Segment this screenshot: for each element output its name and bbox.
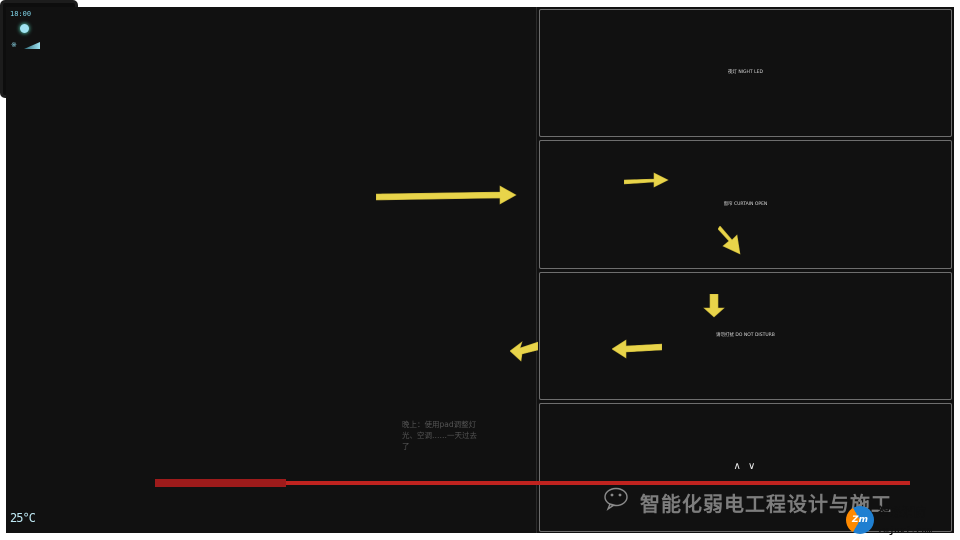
slide-canvas: 酒店●智能化系统 1.1 酒店移动互联 酒店移动互联，打造个性“体验与效率” 入… [0,0,960,540]
logo-company-name: 智淼消防 [878,505,926,519]
logo-website: zmjaxf.com [878,526,932,536]
fan-speed-bar [24,42,40,49]
arrow-down-right-1 [718,226,746,256]
pad-clock: 18:00 [10,10,31,18]
photo-room-control-pad: 18:00 ※ 25°C 夜灯 NIGHT LED 窗帘 CURTAIN OPE… [0,0,78,98]
pad-temperature: 25°C [10,511,35,525]
logo-mark-text: Zm [846,506,874,534]
company-logo: Zm 智淼消防 zmjaxf.com [846,503,932,537]
arrow-left-1 [612,338,662,360]
light-icon [20,24,29,33]
pad-button-do-not-disturb[interactable]: 请勿打扰 DO NOT DISTURB [539,272,952,401]
footer-bar-thick [155,479,286,487]
pad-button-night-light[interactable]: 夜灯 NIGHT LED [539,9,952,138]
caption-evening-pad: 晚上：使用pad调整灯 光、空调……一天过去 了 [402,420,522,453]
arrow-right-2 [624,168,670,190]
pad-screen-right: 夜灯 NIGHT LED 窗帘 CURTAIN OPEN 请勿打扰 DO NOT… [537,7,954,533]
arrow-down-1 [700,294,726,318]
footer-bar-thin [286,481,910,485]
wechat-icon [604,487,634,511]
pad-screen-left: 18:00 ※ 25°C [6,7,537,533]
fan-icon: ※ [11,41,17,49]
arrow-left-2 [510,338,538,364]
arrow-right-1 [376,178,526,206]
logo-mark-icon: Zm [846,506,874,534]
logo-text-block: 智淼消防 zmjaxf.com [878,503,932,537]
pad-screen: 18:00 ※ 25°C 夜灯 NIGHT LED 窗帘 CURTAIN OPE… [6,7,954,533]
